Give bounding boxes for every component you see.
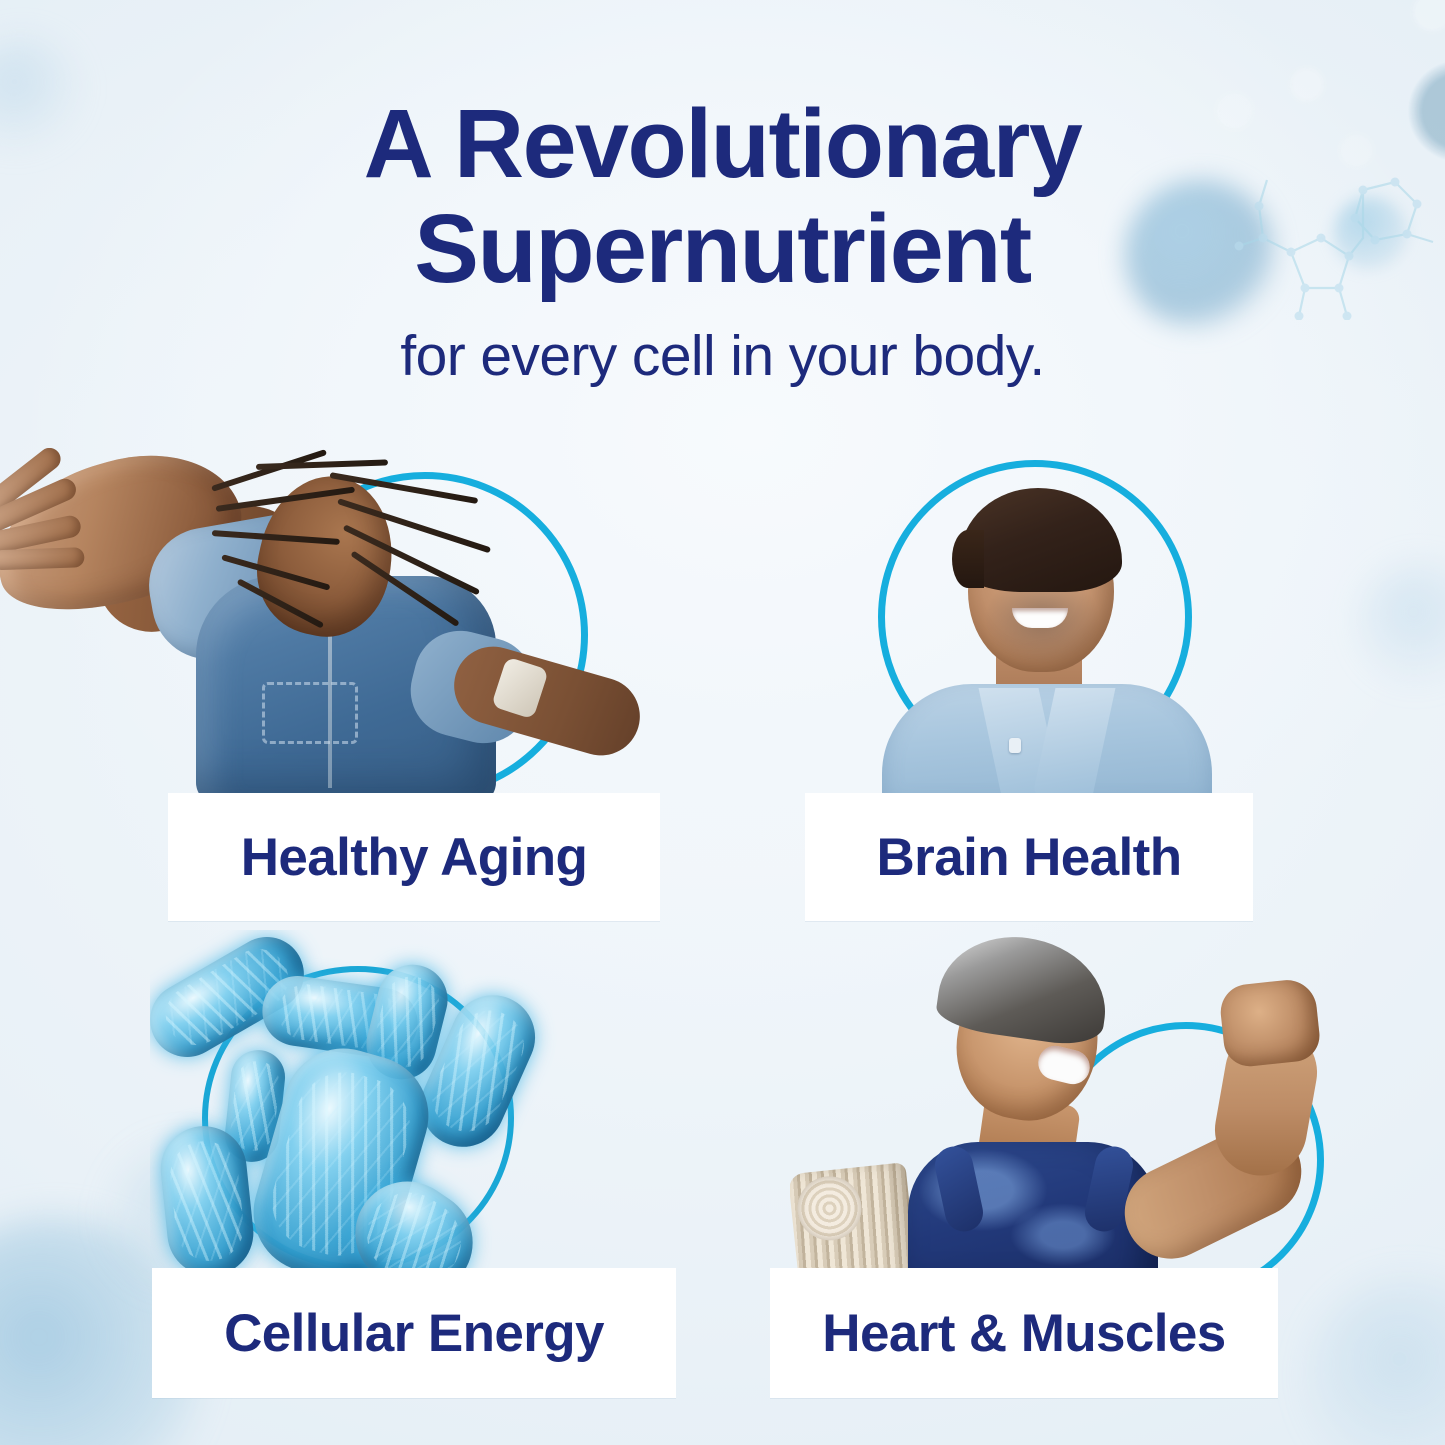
benefit-label: Brain Health	[877, 827, 1182, 888]
benefit-image-cellular-energy	[150, 930, 670, 1280]
benefit-image-healthy-aging	[0, 448, 660, 800]
headline-line-2: Supernutrient	[414, 194, 1030, 303]
background-cell-blob	[1305, 1275, 1445, 1445]
benefit-label: Healthy Aging	[241, 827, 588, 888]
photo-button	[1009, 738, 1021, 753]
benefit-image-heart-muscles	[790, 930, 1350, 1280]
benefit-label: Cellular Energy	[224, 1303, 604, 1364]
benefit-card-brain-health[interactable]: Brain Health	[805, 793, 1253, 921]
photo-fist	[1218, 977, 1322, 1069]
benefit-card-healthy-aging[interactable]: Healthy Aging	[168, 793, 660, 921]
page-subtitle: for every cell in your body.	[0, 324, 1445, 390]
page-title: A Revolutionary Supernutrient	[0, 92, 1445, 302]
benefit-image-brain-health	[800, 448, 1320, 800]
infographic-canvas: A Revolutionary Supernutrient for every …	[0, 0, 1445, 1445]
benefit-label: Heart & Muscles	[822, 1303, 1225, 1364]
photo-shirt	[882, 684, 1212, 800]
photo-yoga-mat	[790, 1162, 918, 1280]
benefit-card-heart-muscles[interactable]: Heart & Muscles	[770, 1268, 1278, 1398]
benefit-card-cellular-energy[interactable]: Cellular Energy	[152, 1268, 676, 1398]
headline-line-1: A Revolutionary	[364, 89, 1082, 198]
background-cell-blob	[1355, 560, 1445, 690]
hero-text-block: A Revolutionary Supernutrient for every …	[0, 92, 1445, 389]
